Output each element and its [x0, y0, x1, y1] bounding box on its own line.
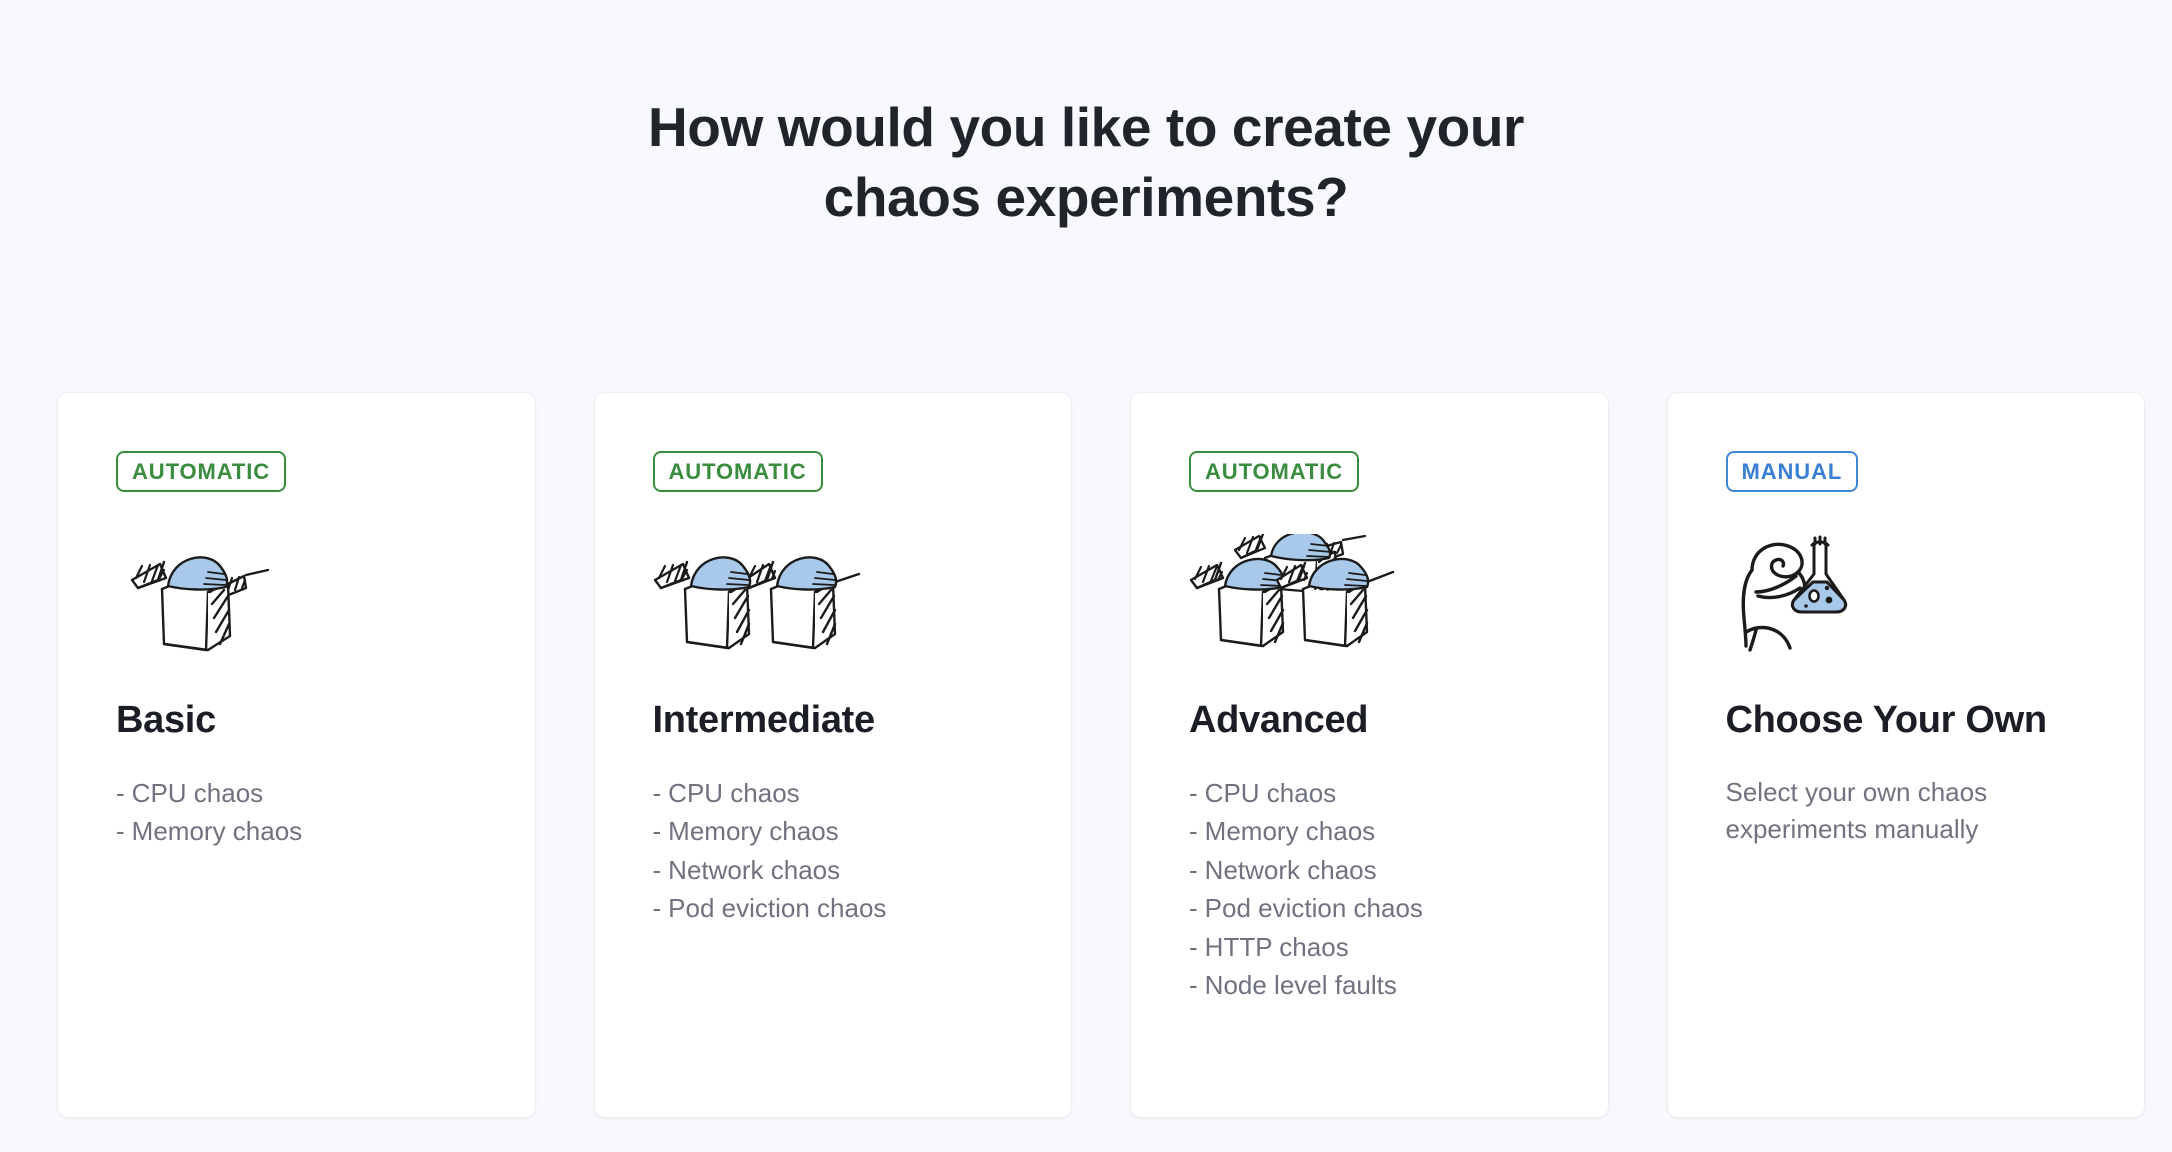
list-item-label: CPU chaos: [1205, 778, 1337, 808]
list-item-label: Memory chaos: [1205, 816, 1376, 846]
feature-list: -CPU chaos -Memory chaos -Network chaos …: [1189, 774, 1608, 1005]
status-badge: AUTOMATIC: [116, 451, 286, 492]
list-item: -Memory chaos: [653, 812, 1072, 850]
list-item: -CPU chaos: [1189, 774, 1608, 812]
card-title: Intermediate: [653, 700, 1072, 742]
list-item-label: Node level faults: [1205, 970, 1397, 1000]
list-item: -Network chaos: [653, 851, 1072, 889]
list-item: -HTTP chaos: [1189, 928, 1608, 966]
list-item-label: Network chaos: [1205, 855, 1377, 885]
bullet-dash: -: [653, 778, 662, 808]
experiment-mode-card-advanced[interactable]: AUTOMATIC: [1130, 392, 1609, 1118]
page-title-line-1: How would you like to create your: [0, 92, 2172, 162]
bullet-dash: -: [1189, 932, 1198, 962]
create-experiment-page: How would you like to create your chaos …: [0, 0, 2172, 1152]
list-item: -Network chaos: [1189, 851, 1608, 889]
bullet-dash: -: [1189, 893, 1198, 923]
list-item: -Pod eviction chaos: [653, 889, 1072, 927]
list-item: -Memory chaos: [1189, 812, 1608, 850]
bullet-dash: -: [1189, 816, 1198, 846]
bullet-dash: -: [653, 855, 662, 885]
bullet-dash: -: [116, 778, 125, 808]
page-title: How would you like to create your chaos …: [0, 92, 2172, 233]
page-title-line-2: chaos experiments?: [0, 162, 2172, 232]
list-item: -Node level faults: [1189, 966, 1608, 1004]
two-boxes-illustration: [653, 534, 863, 652]
status-badge: AUTOMATIC: [1189, 451, 1359, 492]
bullet-dash: -: [653, 816, 662, 846]
bullet-dash: -: [1189, 855, 1198, 885]
scientist-flask-illustration: [1726, 534, 1936, 652]
list-item-label: Memory chaos: [132, 816, 303, 846]
list-item-label: Pod eviction chaos: [668, 893, 886, 923]
three-boxes-illustration: [1189, 534, 1399, 652]
bullet-dash: -: [1189, 778, 1198, 808]
feature-list: -CPU chaos -Memory chaos -Network chaos …: [653, 774, 1072, 928]
card-title: Advanced: [1189, 700, 1608, 742]
feature-list: -CPU chaos -Memory chaos: [116, 774, 535, 851]
list-item: -CPU chaos: [653, 774, 1072, 812]
list-item-label: Memory chaos: [668, 816, 839, 846]
list-item: -Pod eviction chaos: [1189, 889, 1608, 927]
status-badge: MANUAL: [1726, 451, 1859, 492]
experiment-mode-card-choose-your-own[interactable]: MANUAL: [1667, 392, 2146, 1118]
one-box-illustration: [116, 534, 326, 652]
list-item: -CPU chaos: [116, 774, 535, 812]
list-item-label: CPU chaos: [668, 778, 800, 808]
card-title: Choose Your Own: [1726, 700, 2145, 742]
list-item-label: Network chaos: [668, 855, 840, 885]
card-description: Select your own chaos experiments manual…: [1726, 774, 2026, 849]
status-badge: AUTOMATIC: [653, 451, 823, 492]
list-item-label: CPU chaos: [132, 778, 264, 808]
bullet-dash: -: [653, 893, 662, 923]
bullet-dash: -: [116, 816, 125, 846]
experiment-mode-card-list: AUTOMATIC: [57, 392, 2145, 1118]
experiment-mode-card-basic[interactable]: AUTOMATIC: [57, 392, 536, 1118]
list-item-label: HTTP chaos: [1205, 932, 1349, 962]
bullet-dash: -: [1189, 970, 1198, 1000]
experiment-mode-card-intermediate[interactable]: AUTOMATIC: [594, 392, 1073, 1118]
list-item-label: Pod eviction chaos: [1205, 893, 1423, 923]
list-item: -Memory chaos: [116, 812, 535, 850]
card-title: Basic: [116, 700, 535, 742]
